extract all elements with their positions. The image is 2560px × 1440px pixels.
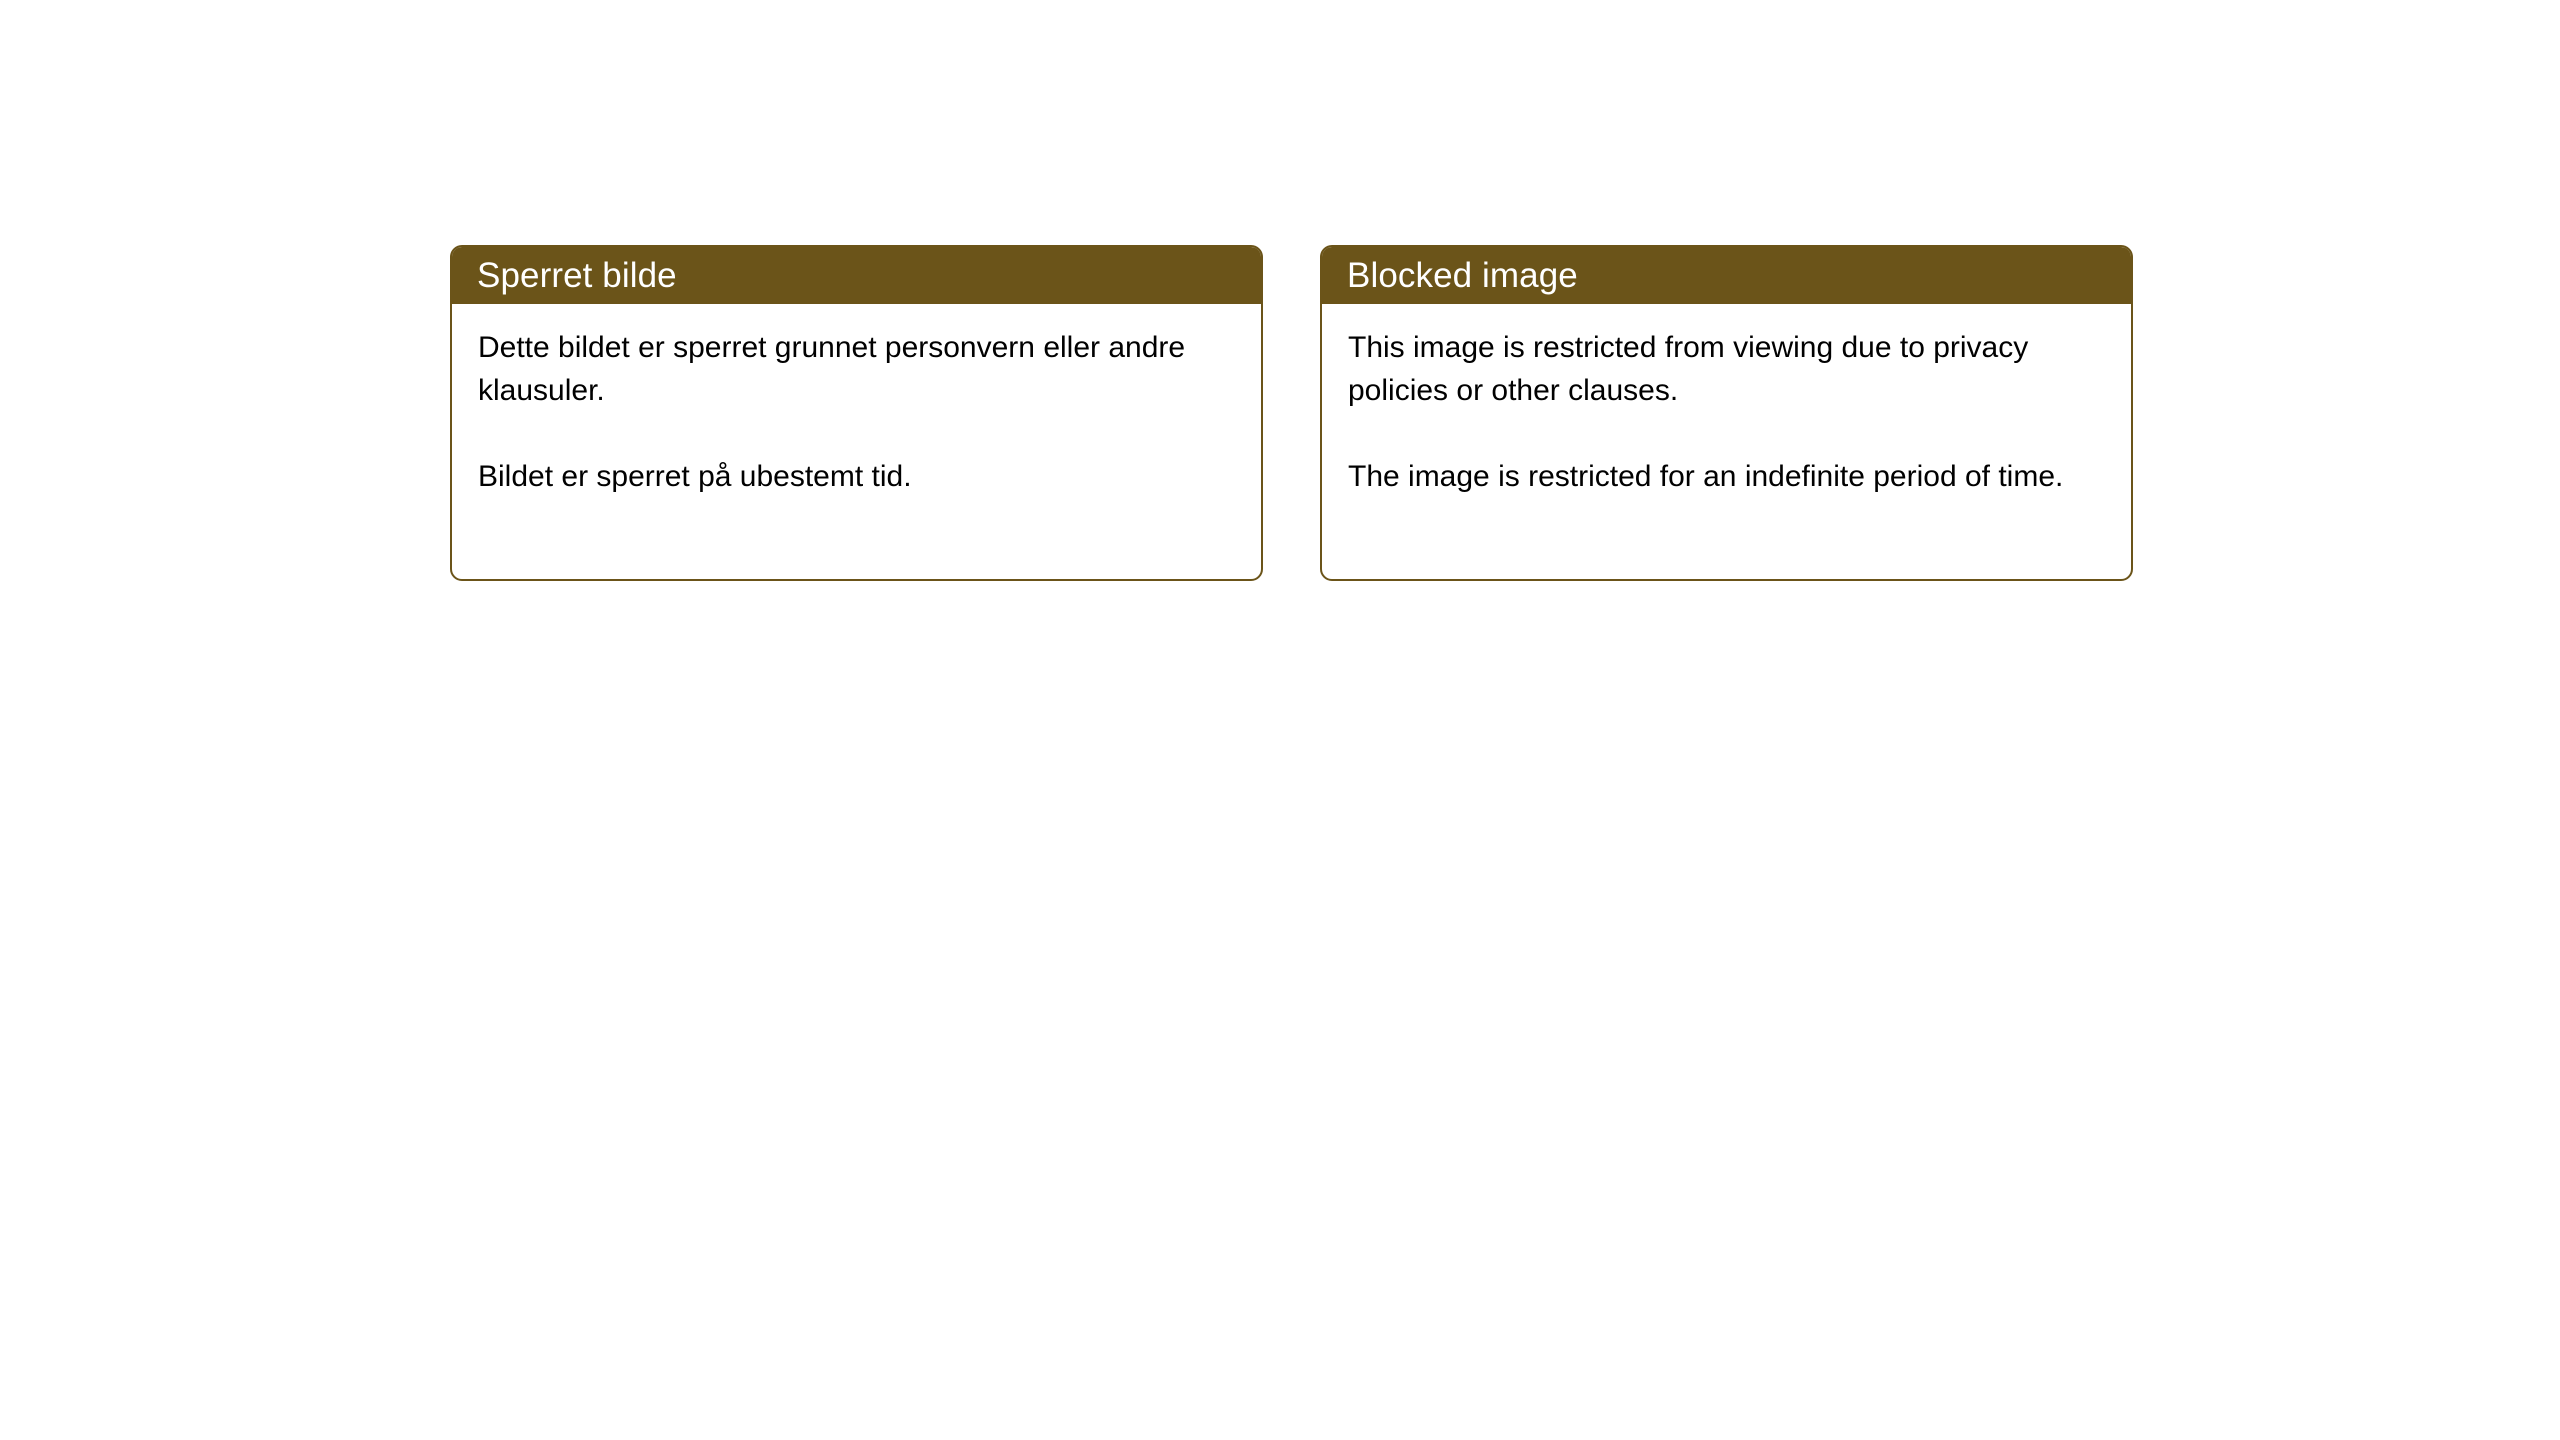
card-paragraph-privacy-english: This image is restricted from viewing du… — [1348, 326, 2105, 412]
card-title-english: Blocked image — [1347, 258, 1578, 293]
card-body-norwegian: Dette bildet er sperret grunnet personve… — [452, 304, 1261, 579]
page-root: Sperret bilde Dette bildet er sperret gr… — [0, 0, 2560, 1440]
card-header-english: Blocked image — [1322, 247, 2131, 304]
card-paragraph-duration-norwegian: Bildet er sperret på ubestemt tid. — [478, 455, 1235, 498]
blocked-image-card-norwegian: Sperret bilde Dette bildet er sperret gr… — [450, 245, 1263, 581]
card-paragraph-privacy-norwegian: Dette bildet er sperret grunnet personve… — [478, 326, 1235, 412]
blocked-image-notice-group: Sperret bilde Dette bildet er sperret gr… — [450, 245, 2133, 581]
card-title-norwegian: Sperret bilde — [477, 258, 677, 293]
card-header-norwegian: Sperret bilde — [452, 247, 1261, 304]
card-paragraph-duration-english: The image is restricted for an indefinit… — [1348, 455, 2105, 498]
card-body-english: This image is restricted from viewing du… — [1322, 304, 2131, 579]
blocked-image-card-english: Blocked image This image is restricted f… — [1320, 245, 2133, 581]
